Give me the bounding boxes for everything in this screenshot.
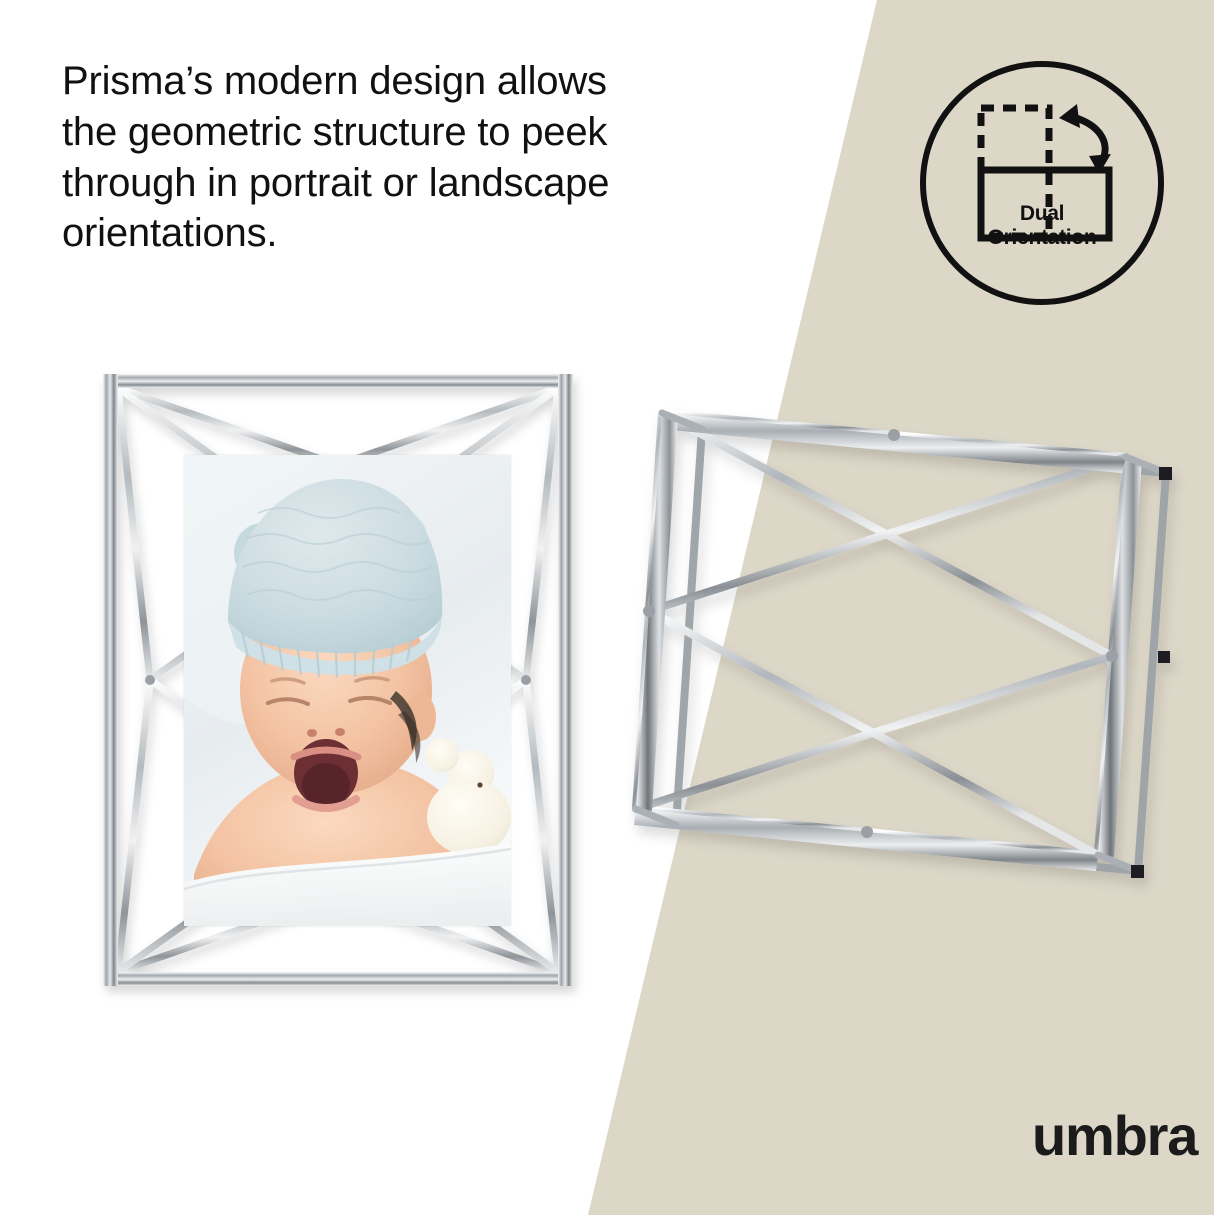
landscape-frame-body <box>634 413 1172 878</box>
umbra-wordmark: umbra <box>1032 1108 1197 1164</box>
framed-photo <box>184 455 511 926</box>
dual-orientation-badge: Dual Orientation <box>919 60 1165 306</box>
prisma-frame-landscape <box>598 385 1188 925</box>
baby-photo-illustration <box>184 455 511 926</box>
rotation-arrow-head-left <box>1059 104 1080 128</box>
badge-ring <box>923 64 1161 302</box>
frame-bar-bottom <box>103 972 573 986</box>
frame-bar-top <box>103 374 573 388</box>
product-feature-image: Prisma’s modern design allows the geomet… <box>0 0 1214 1215</box>
page-title: Prisma’s modern design allows the geomet… <box>62 56 742 259</box>
landscape-frame-struts <box>636 413 1126 855</box>
frame-bar-right <box>558 374 573 986</box>
frame-bar-left <box>103 374 118 986</box>
rotate-orientation-icon <box>919 60 1165 306</box>
badge-label: Dual Orientation <box>919 202 1165 249</box>
landscape-bar-top <box>660 413 1126 473</box>
